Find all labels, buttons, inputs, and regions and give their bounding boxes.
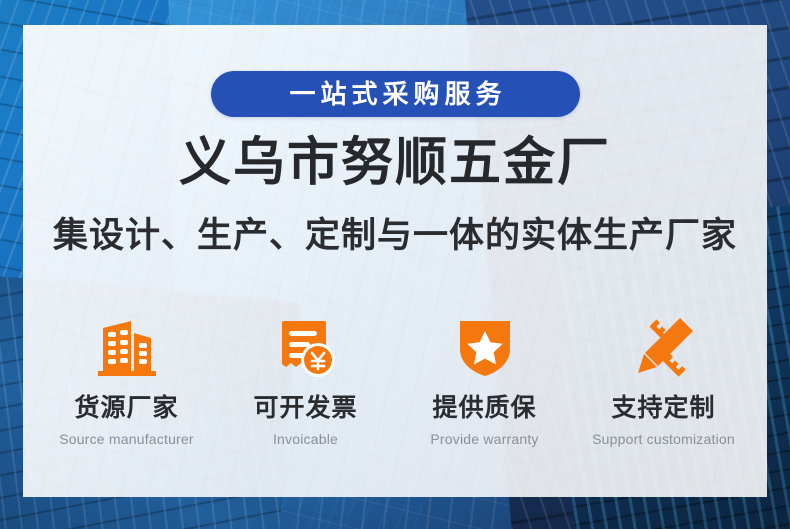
feature-subtitle: Invoicable (273, 432, 338, 447)
content-panel: 一站式采购服务 义乌市努顺五金厂 集设计、生产、定制与一体的实体生产厂家 (23, 25, 767, 497)
company-tagline: 集设计、生产、定制与一体的实体生产厂家 (23, 217, 767, 256)
service-badge: 一站式采购服务 (211, 71, 580, 117)
feature-item: 可开发票 Invoicable (222, 315, 390, 447)
promo-banner: 一站式采购服务 义乌市努顺五金厂 集设计、生产、定制与一体的实体生产厂家 (0, 0, 790, 529)
feature-title: 可开发票 (253, 395, 357, 423)
feature-title: 支持定制 (611, 395, 715, 423)
feature-subtitle: Source manufacturer (59, 432, 194, 447)
office-building-icon (91, 315, 163, 381)
company-name-heading: 义乌市努顺五金厂 (23, 135, 767, 191)
feature-subtitle: Support customization (592, 432, 735, 447)
feature-item: 支持定制 Support customization (580, 315, 748, 447)
feature-item: 货源厂家 Source manufacturer (43, 315, 211, 447)
feature-subtitle: Provide warranty (430, 432, 538, 447)
feature-title: 货源厂家 (74, 395, 178, 423)
feature-item: 提供质保 Provide warranty (401, 315, 569, 447)
pencil-edit-icon (628, 315, 700, 381)
shield-star-icon (449, 315, 521, 381)
feature-list: 货源厂家 Source manufacturer (37, 315, 753, 447)
invoice-receipt-yen-icon (270, 315, 342, 381)
feature-title: 提供质保 (432, 395, 536, 423)
service-badge-label: 一站式采购服务 (284, 81, 506, 107)
